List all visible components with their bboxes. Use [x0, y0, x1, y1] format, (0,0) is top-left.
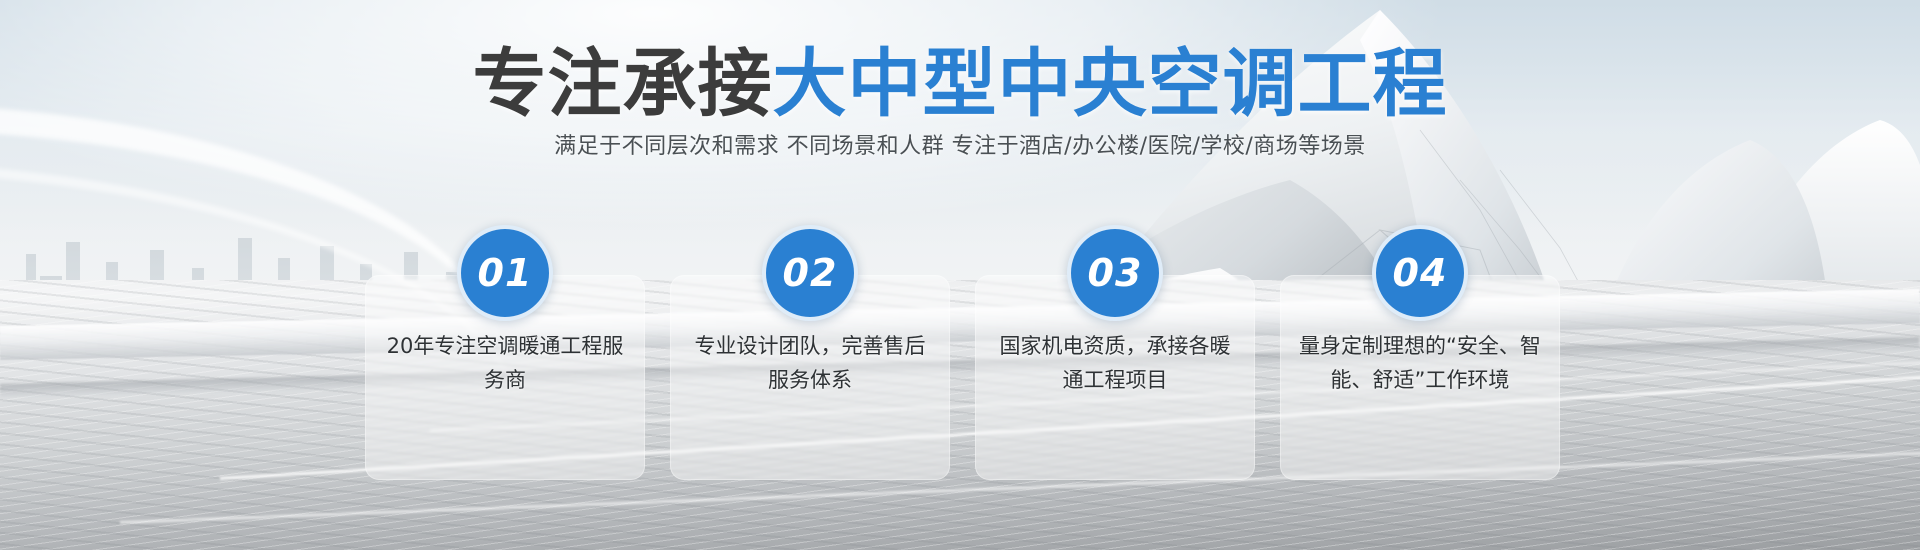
feature-text: 国家机电资质，承接各暖通工程项目: [991, 329, 1239, 397]
headline-accent-part: 大中型中央空调工程: [773, 41, 1448, 127]
feature-text: 专业设计团队，完善售后服务体系: [686, 329, 934, 397]
feature-text: 20年专注空调暖通工程服务商: [381, 329, 629, 397]
feature-item[interactable]: 01 20年专注空调暖通工程服务商: [365, 225, 645, 525]
feature-number-badge: 04: [1372, 225, 1468, 321]
feature-text: 量身定制理想的“安全、智能、舒适”工作环境: [1296, 329, 1544, 397]
feature-item[interactable]: 03 国家机电资质，承接各暖通工程项目: [975, 225, 1255, 525]
feature-number-badge: 02: [762, 225, 858, 321]
hero-banner: 专注承接大中型中央空调工程 满足于不同层次和需求 不同场景和人群 专注于酒店/办…: [0, 0, 1920, 550]
feature-number-badge: 01: [457, 225, 553, 321]
feature-item[interactable]: 02 专业设计团队，完善售后服务体系: [670, 225, 950, 525]
feature-item[interactable]: 04 量身定制理想的“安全、智能、舒适”工作环境: [1280, 225, 1560, 525]
feature-list: 01 20年专注空调暖通工程服务商 02 专业设计团队，完善售后服务体系 03 …: [365, 225, 1565, 525]
headline-dark-part: 专注承接: [473, 41, 773, 127]
page-subtitle: 满足于不同层次和需求 不同场景和人群 专注于酒店/办公楼/医院/学校/商场等场景: [0, 128, 1920, 160]
page-title: 专注承接大中型中央空调工程: [0, 44, 1920, 124]
feature-number-badge: 03: [1067, 225, 1163, 321]
